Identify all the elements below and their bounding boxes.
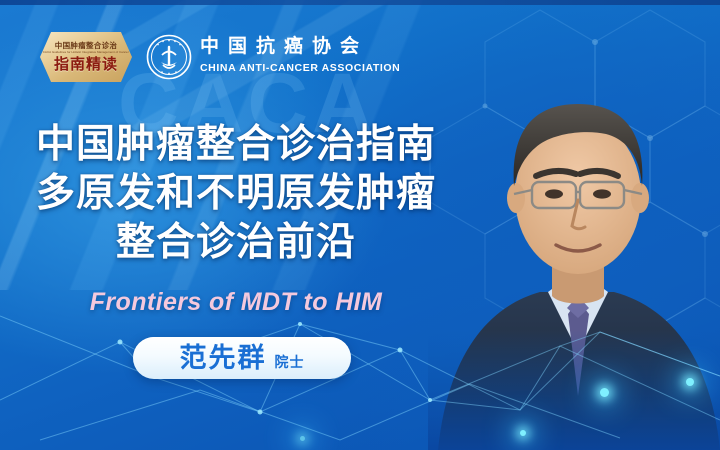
guideline-badge-main-text: 指南精读 [54, 56, 118, 74]
caca-seal-icon [146, 34, 192, 80]
glow-node-1 [600, 388, 609, 397]
title-line-3: 整合诊治前沿 [0, 220, 472, 265]
speaker-name: 范先群 [180, 343, 267, 373]
association-name-en: CHINA ANTI-CANCER ASSOCIATION [200, 62, 400, 75]
title-line-2: 多原发和不明原发肿瘤 [0, 171, 472, 216]
guideline-badge-top-text: 中国肿瘤整合诊治 [55, 41, 117, 50]
glow-node-3 [520, 430, 526, 436]
speaker-title: 院士 [275, 353, 305, 371]
guideline-badge-english-text: CACA Guidelines for Holistic Integrative… [43, 50, 129, 55]
glow-node-2 [686, 378, 694, 386]
subtitle-english: Frontiers of MDT to HIM [0, 288, 472, 317]
title-line-1: 中国肿瘤整合诊治指南 [0, 122, 472, 167]
title-block: 中国肿瘤整合诊治指南 多原发和不明原发肿瘤 整合诊治前沿 [0, 122, 472, 266]
association-name-cn: 中国抗癌协会 [200, 36, 368, 58]
poster-header: 中国肿瘤整合诊治 CACA Guidelines for Holistic In… [0, 0, 720, 92]
speaker-name-badge: 范先群 院士 [133, 337, 351, 379]
guideline-badge: 中国肿瘤整合诊治 CACA Guidelines for Holistic In… [40, 32, 132, 82]
header-top-rule [0, 0, 720, 5]
glow-node-4 [300, 436, 305, 441]
poster-banner: CACA [0, 0, 720, 450]
